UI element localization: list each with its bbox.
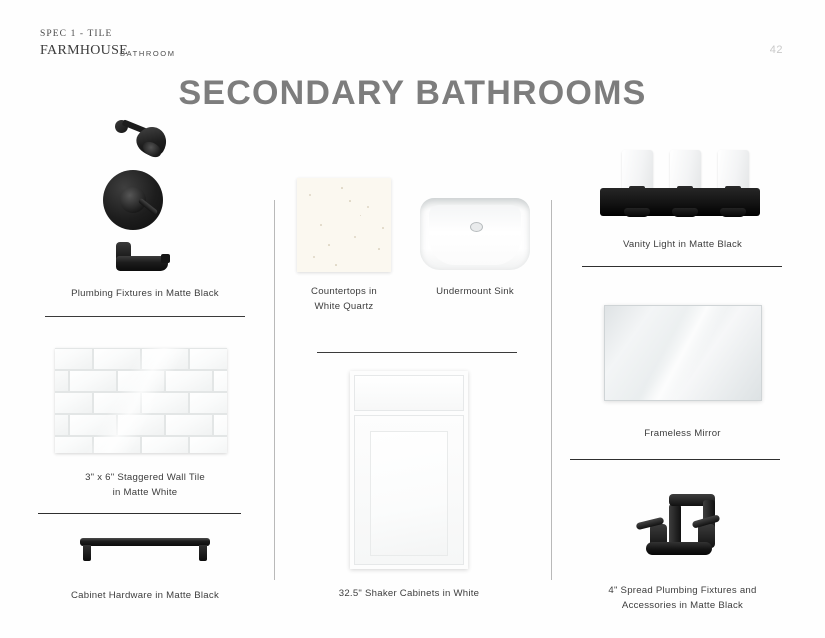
shower-trim-set [95,112,205,272]
collection-title: FARMHOUSE [40,43,128,59]
cabinet-bar-pull [80,536,210,564]
caption-lav-faucet-line2: Accessories in Matte Black [570,598,795,613]
caption-countertops-line1: Countertops in [284,284,404,299]
tile-unit [93,392,141,414]
presentation-slide: SPEC 1 - TILE FARMHOUSE BATHROOM 42 SECO… [0,0,825,638]
caption-lav-faucet-line1: 4" Spread Plumbing Fixtures and [570,583,795,598]
tile-unit [165,370,213,392]
quartz-speck [309,194,311,196]
quartz-speck [360,215,361,216]
quartz-speck [378,248,380,250]
shaker-cabinet-door [350,371,468,569]
tile-unit [117,414,165,436]
tile-unit [69,414,117,436]
tile-unit [93,348,141,370]
faucet-spout-riser [669,504,681,546]
tile-unit [55,414,69,436]
light-arm-left [624,208,650,217]
spec-label: SPEC 1 - TILE [40,29,112,39]
caption-undermount-sink: Undermount Sink [412,284,538,299]
caption-cabinet-hardware: Cabinet Hardware in Matte Black [25,588,265,603]
caption-frameless-mirror: Frameless Mirror [570,426,795,441]
caption-countertops-line2: White Quartz [284,299,404,314]
quartz-speck [341,187,343,189]
caption-plumbing-fixtures: Plumbing Fixtures in Matte Black [25,286,265,301]
pull-post-right [199,545,207,561]
sink-basin [429,205,521,265]
caption-shaker-cabinets: 32.5" Shaker Cabinets in White [294,586,524,601]
quartz-speck [313,256,315,258]
light-arm-right [720,208,746,217]
caption-vanity-light: Vanity Light in Matte Black [570,237,795,252]
tile-unit [189,392,227,414]
tile-unit [141,436,189,453]
lavatory-faucet [640,480,750,562]
column-rule-right [551,200,552,580]
divider-right-2 [570,459,780,460]
frameless-mirror [604,305,762,401]
page-title: SECONDARY BATHROOMS [0,74,825,113]
quartz-swatch [297,178,391,272]
subway-tile-swatch [55,348,227,453]
divider-left-2 [38,513,241,514]
undermount-sink [420,198,530,270]
sink-drain [470,222,483,232]
pull-post-left [83,545,91,561]
tile-unit [213,370,227,392]
tile-unit [55,436,93,453]
cabinet-door-recessed-panel [370,431,448,556]
divider-middle-1 [317,352,517,353]
light-arm-center [672,208,698,217]
tile-unit [141,348,189,370]
tile-unit [213,414,227,436]
quartz-speck [320,224,322,226]
tile-unit [189,436,227,453]
column-rule-left [274,200,275,580]
tile-unit [189,348,227,370]
quartz-speck [354,236,356,238]
divider-left-1 [45,316,245,317]
mirror-reflection [605,306,761,400]
tile-unit [55,370,69,392]
caption-wall-tile-line1: 3" x 6" Staggered Wall Tile [25,470,265,485]
quartz-speck [367,206,369,208]
tub-spout-tip [161,254,170,263]
room-label: BATHROOM [120,49,176,58]
quartz-speck [349,200,351,202]
tile-unit [141,392,189,414]
quartz-speck [328,244,330,246]
cabinet-drawer-front [354,375,464,411]
faucet-deck-plate [646,542,712,555]
tile-unit [165,414,213,436]
tile-unit [117,370,165,392]
quartz-speck [382,227,384,229]
page-number: 42 [770,44,783,56]
divider-right-1 [582,266,782,267]
caption-wall-tile-line2: in Matte White [25,485,265,500]
tile-unit [69,370,117,392]
vanity-light [600,150,760,218]
quartz-speck [335,264,337,266]
pull-bar [80,538,210,546]
tile-unit [55,348,93,370]
tile-unit [55,392,93,414]
tile-unit [93,436,141,453]
